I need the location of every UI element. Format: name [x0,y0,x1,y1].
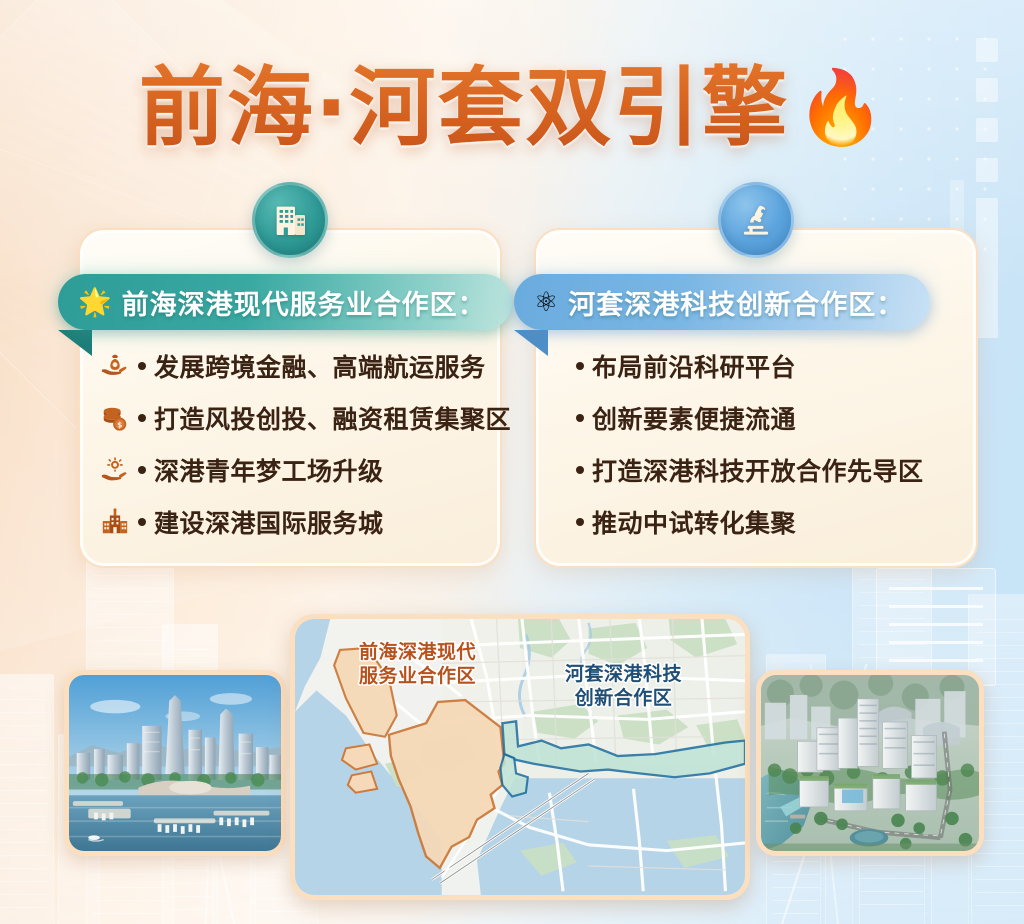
list-item-label: 布局前沿科研平台 [592,348,796,384]
map-label-hetao: 河套深港科技 创新合作区 [565,663,682,710]
bullet-list-hetao: 布局前沿科研平台 创新要素便捷流通 打造深港科技开放合作先导区 推动中试转化集聚 [536,340,976,552]
map-label-qianhai: 前海深港现代 服务业合作区 [359,641,476,688]
list-item[interactable]: 推动中试转化集聚 [576,496,958,548]
list-item[interactable]: $ 打造风投创投、融资租赁集聚区 [100,392,482,444]
ribbon-title-hetao: 河套深港科技创新合作区： [568,283,904,322]
list-item[interactable]: 打造深港科技开放合作先导区 [576,444,958,496]
microscope-icon [718,182,794,258]
star-emoji: 🌟 [78,289,112,316]
svg-text:$: $ [117,420,122,429]
shenzhen-cooperation-zones-map[interactable]: 前海深港现代 服务业合作区 河套深港科技 创新合作区 [290,614,750,900]
list-item[interactable]: 发展跨境金融、高端航运服务 [100,340,482,392]
background-bar [976,38,998,62]
qianhai-waterfront-photo[interactable] [64,670,286,856]
list-item-label: 建设深港国际服务城 [154,504,384,540]
list-item-label: 深港青年梦工场升级 [154,452,384,488]
list-item-label: 打造深港科技开放合作先导区 [592,452,924,488]
city-buildings-icon [100,507,130,537]
list-item[interactable]: 建设深港国际服务城 [100,496,482,548]
bullet-dot [138,518,146,526]
hand-idea-icon [100,455,130,485]
office-building-icon [252,182,328,258]
photo-image [69,675,281,851]
list-item-label: 发展跨境金融、高端航运服务 [154,348,486,384]
bullet-list-qianhai: 发展跨境金融、高端航运服务 $ 打造风投创投、融资租赁集聚区 [80,340,500,552]
list-item[interactable]: 布局前沿科研平台 [576,340,958,392]
hetao-tech-park-photo[interactable] [756,670,984,856]
fire-emoji: 🔥 [796,72,886,144]
ribbon-title-qianhai: 前海深港现代服务业合作区： [122,283,486,322]
bullet-dot [138,466,146,474]
bullet-dot [138,362,146,370]
ribbon-qianhai: 🌟 前海深港现代服务业合作区： [58,274,512,330]
bullet-dot [576,466,584,474]
card-hetao[interactable]: ⚛ 河套深港科技创新合作区： 布局前沿科研平台 创新要素便捷流通 打造深港科技开… [534,228,978,568]
list-item-label: 推动中试转化集聚 [592,504,796,540]
list-item[interactable]: 深港青年梦工场升级 [100,444,482,496]
page-title: 前海·河套双引擎 🔥 [0,62,1024,155]
photo-image [761,675,979,851]
list-item-label: 打造风投创投、融资租赁集聚区 [154,400,511,436]
background-bar [976,198,998,338]
bullet-dot [138,414,146,422]
ribbon-hetao: ⚛ 河套深港科技创新合作区： [514,274,930,330]
page-title-text: 前海·河套双引擎 [139,62,790,155]
list-item[interactable]: 创新要素便捷流通 [576,392,958,444]
atom-science-emoji: ⚛ [534,289,558,316]
bullet-dot [576,362,584,370]
list-item-label: 创新要素便捷流通 [592,400,796,436]
coin-stack-icon: $ [100,403,130,433]
media-row: 前海深港现代 服务业合作区 河套深港科技 创新合作区 [0,594,1024,924]
bullet-dot [576,518,584,526]
money-bag-hand-icon [100,351,130,381]
background-bar [976,158,998,182]
bullet-dot [576,414,584,422]
card-qianhai[interactable]: 🌟 前海深港现代服务业合作区： 发展跨境金融、高端航运服务 [78,228,502,568]
